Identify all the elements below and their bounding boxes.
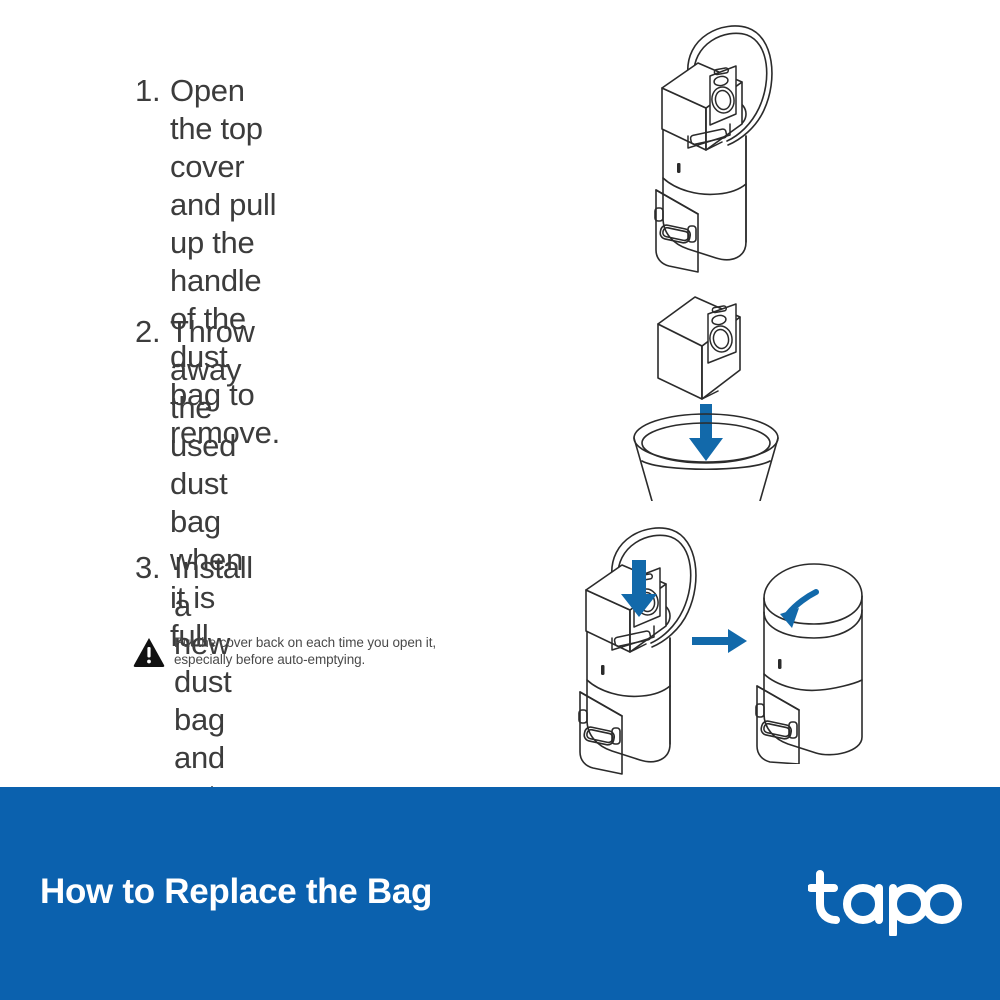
- steps-area: 1. Open the top cover and pull up the ha…: [0, 0, 1000, 787]
- step-1-illustration: [628, 18, 818, 273]
- down-arrow-icon: [689, 404, 723, 461]
- tapo-logo: [808, 866, 963, 936]
- warning-note: Put the cover back on each time you open…: [133, 634, 533, 668]
- step-2-number: 2.: [135, 313, 170, 351]
- warning-note-text: Put the cover back on each time you open…: [174, 634, 436, 668]
- close-cover-arrow-head-icon: [780, 608, 799, 628]
- page-title: How to Replace the Bag: [40, 872, 432, 912]
- step-1-number: 1.: [135, 72, 170, 110]
- step-3-illustration-closed: [742, 552, 892, 764]
- warning-triangle-icon: [133, 637, 165, 667]
- instruction-card: 1. Open the top cover and pull up the ha…: [0, 0, 1000, 1000]
- transition-right-arrow-icon: [692, 628, 748, 654]
- step-2-illustration: [622, 286, 797, 501]
- step-3-number: 3.: [135, 549, 174, 587]
